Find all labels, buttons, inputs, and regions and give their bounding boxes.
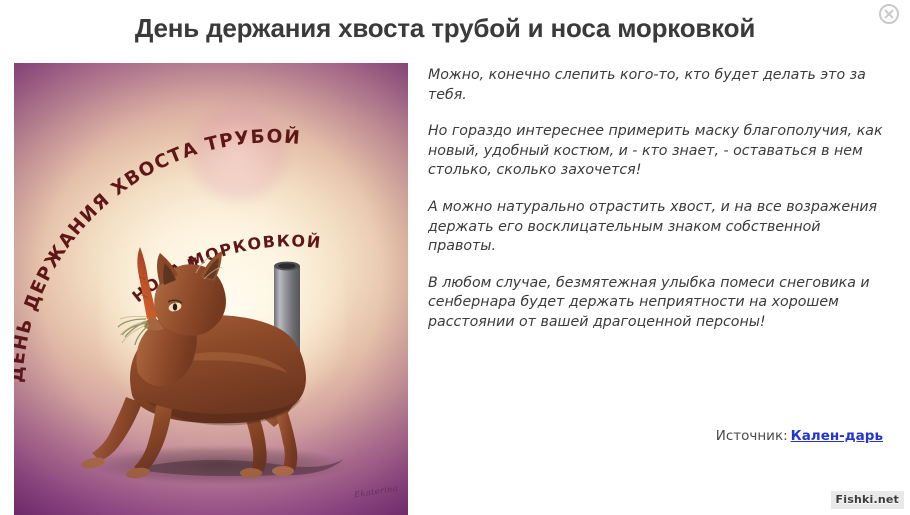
watermark: Fishki.net: [831, 491, 904, 509]
source-line: Источник:Кален-дарь: [428, 428, 883, 444]
source-label: Источник:: [716, 428, 788, 444]
poster-vignette: [14, 63, 408, 515]
source-link[interactable]: Кален-дарь: [791, 428, 883, 444]
page-title: День держания хвоста трубой и носа морко…: [0, 13, 890, 44]
article-paragraph: А можно натурально отрастить хвост, и на…: [428, 198, 883, 257]
article-paragraph: В любом случае, безмятежная улыбка помес…: [428, 274, 883, 333]
poster-image[interactable]: ДЕНЬ ДЕРЖАНИЯ ХВОСТА ТРУБОЙ И НОСА МОРКО…: [14, 63, 408, 515]
article-paragraph: Можно, конечно слепить кого-то, кто буде…: [428, 66, 883, 105]
article-paragraph: Но гораздо интереснее примерить маску бл…: [428, 122, 883, 181]
article-body: Можно, конечно слепить кого-то, кто буде…: [428, 66, 883, 333]
